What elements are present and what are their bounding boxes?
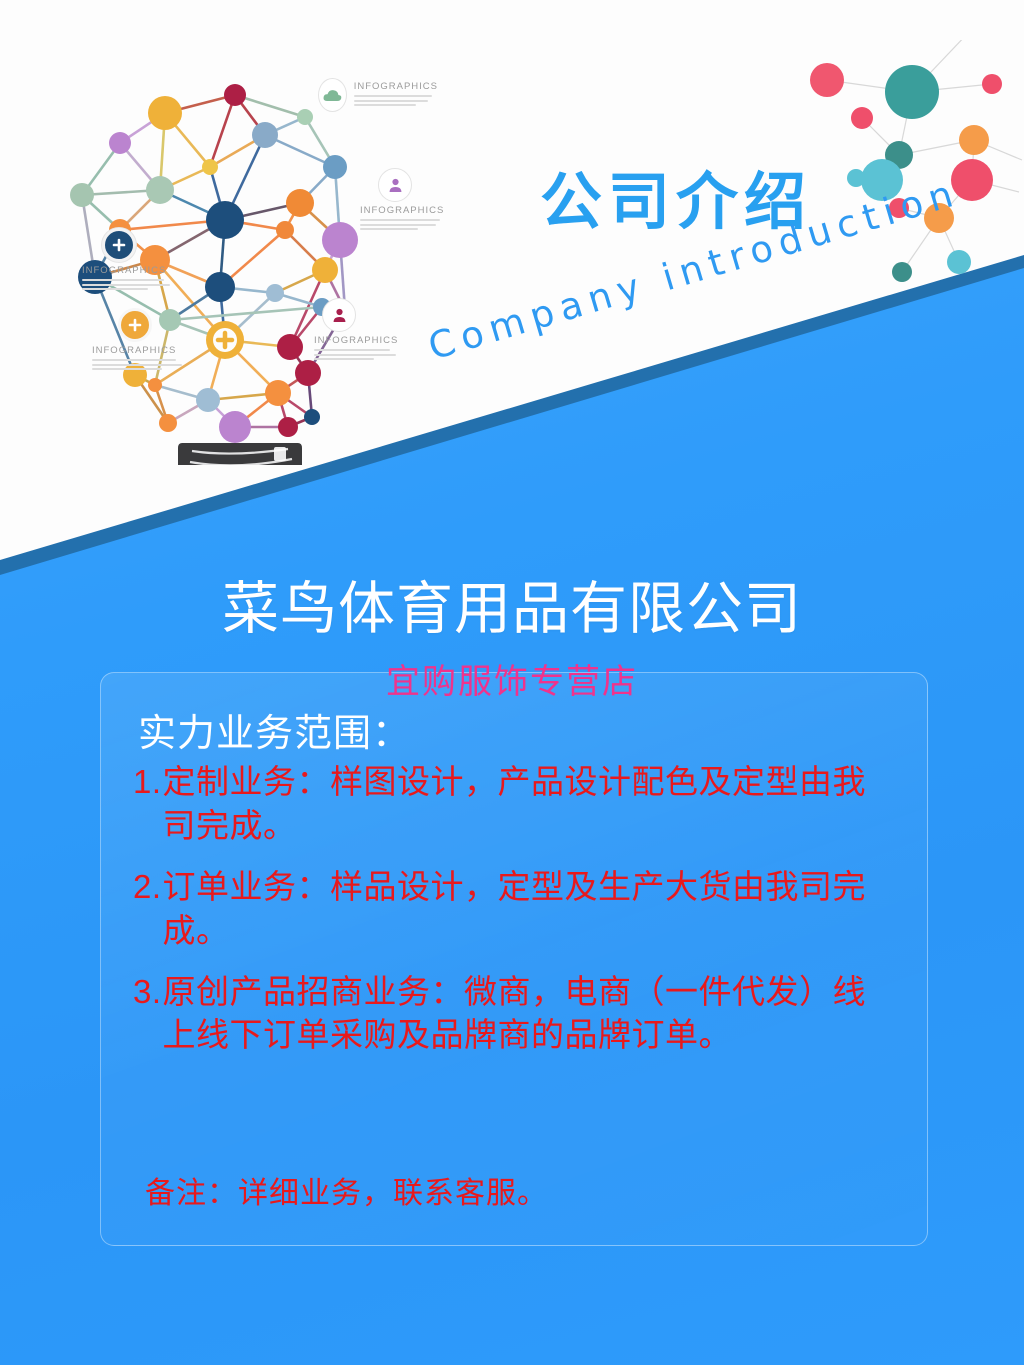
business-item-number: 1.: [133, 760, 163, 848]
business-item-number: 2.: [133, 865, 163, 953]
business-items-list: 1. 定制业务：样图设计，产品设计配色及定型由我司完成。 2. 订单业务：样品设…: [133, 760, 893, 1074]
infographic-label-title: INFOGRAPHICS: [82, 265, 192, 276]
business-item-number: 3.: [133, 970, 163, 1058]
business-item: 3. 原创产品招商业务：微商，电商（一件代发）线上线下订单采购及品牌商的品牌订单…: [133, 970, 893, 1058]
infographic-label-plus-orange: INFOGRAPHICS: [92, 308, 204, 373]
cloud-icon: [318, 78, 347, 112]
business-item-text: 原创产品招商业务：微商，电商（一件代发）线上线下订单采购及品牌商的品牌订单。: [163, 970, 893, 1058]
person-icon: [378, 168, 412, 202]
lorem-lines: [360, 219, 475, 230]
infographic-label-plus-blue: INFOGRAPHICS: [82, 228, 192, 293]
lorem-lines: [82, 279, 192, 290]
infographic-label-person-purple: INFOGRAPHICS: [360, 168, 475, 233]
infographic-label-title: INFOGRAPHICS: [314, 335, 426, 346]
lorem-lines: [354, 95, 438, 106]
infographic-label-title: INFOGRAPHICS: [360, 205, 475, 216]
company-name: 菜鸟体育用品有限公司: [0, 578, 1024, 642]
plus-icon: [118, 308, 152, 342]
business-item: 1. 定制业务：样图设计，产品设计配色及定型由我司完成。: [133, 760, 893, 848]
infographic-label-title: INFOGRAPHICS: [354, 81, 438, 92]
business-item: 2. 订单业务：样品设计，定型及生产大货由我司完成。: [133, 865, 893, 953]
infographic-label-person-crimson: INFOGRAPHICS: [314, 298, 426, 363]
business-item-text: 定制业务：样图设计，产品设计配色及定型由我司完成。: [163, 760, 893, 848]
shop-name: 宜购服饰专营店: [0, 654, 1024, 703]
lorem-lines: [314, 349, 426, 360]
business-item-text: 订单业务：样品设计，定型及生产大货由我司完成。: [163, 865, 893, 953]
business-scope-heading: 实力业务范围：: [138, 702, 411, 757]
plus-icon: [102, 228, 136, 262]
lorem-lines: [92, 359, 204, 370]
infographic-label-cloud: INFOGRAPHICS: [318, 78, 438, 112]
person-icon: [322, 298, 356, 332]
infographic-label-title: INFOGRAPHICS: [92, 345, 204, 356]
footer-note: 备注：详细业务，联系客服。: [145, 1168, 548, 1212]
poster-canvas: INFOGRAPHICS INFOGRAPHICS INFOGRAPHICS I…: [0, 0, 1024, 1365]
